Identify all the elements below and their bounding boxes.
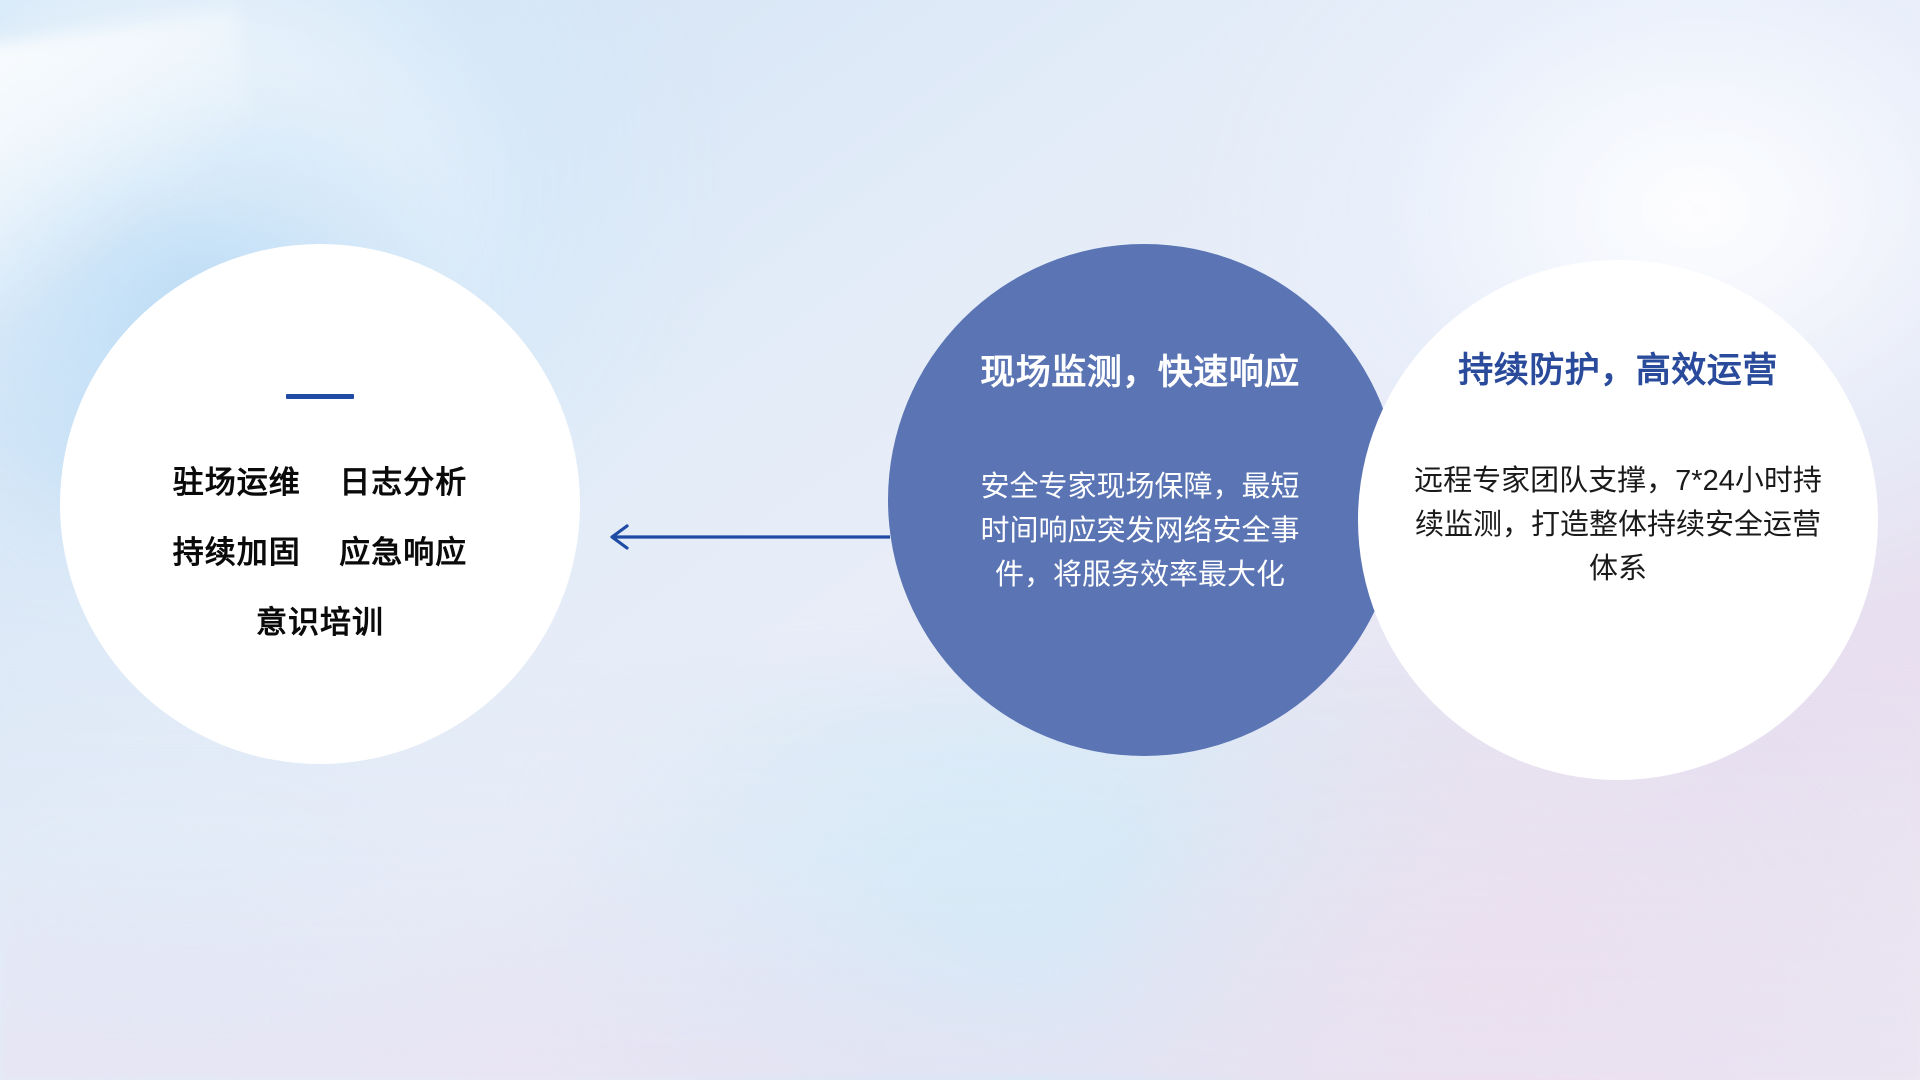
accent-dash-divider [286, 394, 354, 399]
arrow-svg [600, 520, 890, 554]
mid-circle-body: 安全专家现场保障，最短时间响应突发网络安全事件，将服务效率最大化 [975, 465, 1305, 597]
right-circle-title: 持续防护，高效运营 [1458, 352, 1778, 391]
continuous-protection-circle[interactable]: 持续防护，高效运营 远程专家团队支撑，7*24小时持续监测，打造整体持续安全运营… [1358, 260, 1878, 780]
slide-canvas: 驻场运维 日志分析 持续加固 应急响应 意识培训 现场监测，快速响应 安全专家现… [0, 0, 1920, 1080]
right-circle-body: 远程专家团队支撑，7*24小时持续监测，打造整体持续安全运营体系 [1403, 459, 1833, 591]
onsite-monitoring-circle[interactable]: 现场监测，快速响应 安全专家现场保障，最短时间响应突发网络安全事件，将服务效率最… [888, 244, 1400, 756]
left-circle-line-3: 意识培训 [256, 607, 384, 638]
flow-arrow-icon [600, 520, 890, 554]
right-circle-content: 持续防护，高效运营 远程专家团队支撑，7*24小时持续监测，打造整体持续安全运营… [1358, 352, 1878, 591]
left-circle-line-1: 驻场运维 日志分析 [173, 467, 467, 498]
left-circle-line-2: 持续加固 应急响应 [173, 537, 467, 568]
mid-circle-content: 现场监测，快速响应 安全专家现场保障，最短时间响应突发网络安全事件，将服务效率最… [880, 354, 1400, 597]
left-circle-content: 驻场运维 日志分析 持续加固 应急响应 意识培训 [60, 394, 580, 638]
left-service-circle[interactable]: 驻场运维 日志分析 持续加固 应急响应 意识培训 [60, 244, 580, 764]
mid-circle-title: 现场监测，快速响应 [980, 354, 1300, 393]
